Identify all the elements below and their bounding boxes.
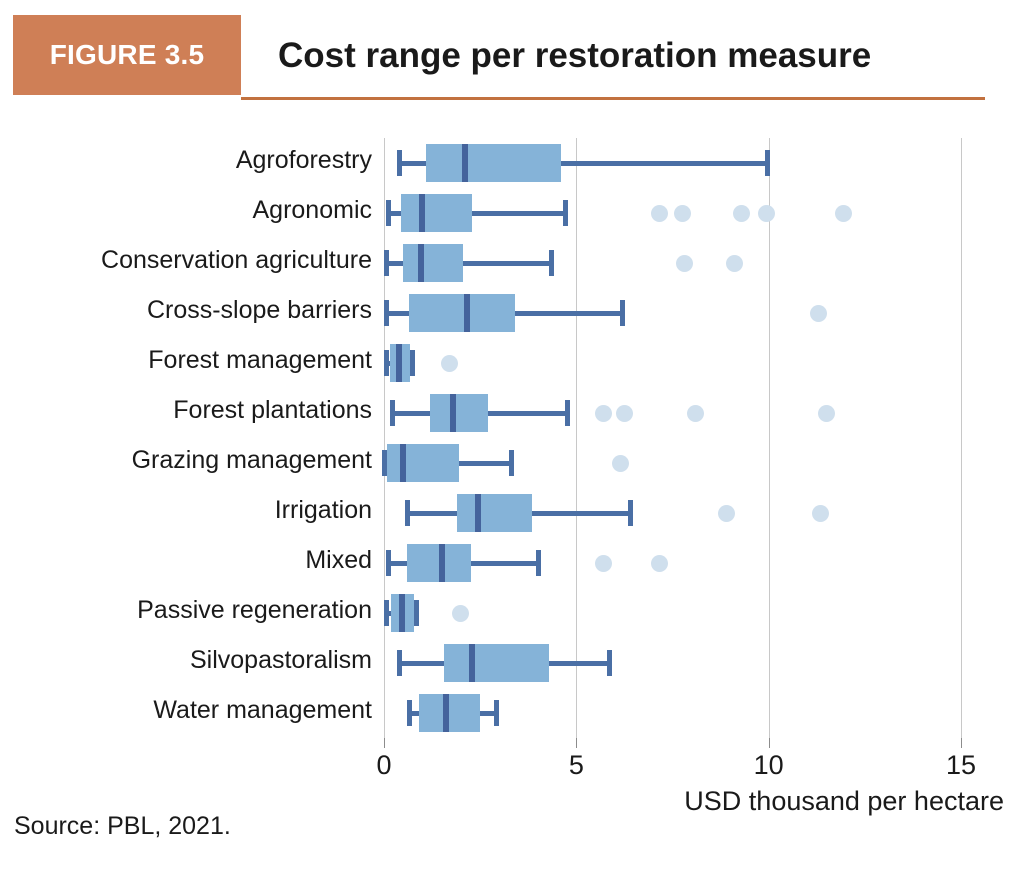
whisker-cap-low — [384, 250, 389, 276]
y-axis-label-grazing-management: Grazing management — [2, 446, 372, 475]
box-plot-row — [384, 338, 961, 388]
outlier-point — [810, 305, 827, 322]
x-tick-label-0: 0 — [376, 750, 391, 781]
box-iqr — [401, 194, 472, 232]
outlier-point — [758, 205, 775, 222]
whisker-cap-high — [509, 450, 514, 476]
outlier-point — [595, 405, 612, 422]
box-plot-row — [384, 188, 961, 238]
whisker-cap-high — [414, 600, 419, 626]
median-line — [400, 444, 406, 482]
whisker-cap-low — [384, 600, 389, 626]
y-axis-label-passive-regeneration: Passive regeneration — [2, 596, 372, 625]
whisker-cap-high — [549, 250, 554, 276]
outlier-point — [674, 205, 691, 222]
y-axis-label-irrigation: Irrigation — [2, 496, 372, 525]
whisker-cap-low — [397, 650, 402, 676]
y-axis-label-mixed: Mixed — [2, 546, 372, 575]
outlier-point — [651, 205, 668, 222]
whisker-cap-low — [384, 350, 389, 376]
median-line — [439, 544, 445, 582]
whisker-cap-high — [494, 700, 499, 726]
outlier-point — [595, 555, 612, 572]
header-divider — [241, 97, 985, 100]
box-plot-row — [384, 538, 961, 588]
y-axis-label-water-management: Water management — [2, 696, 372, 725]
y-axis-label-cross-slope-barriers: Cross-slope barriers — [2, 296, 372, 325]
outlier-point — [812, 505, 829, 522]
outlier-point — [718, 505, 735, 522]
y-axis-category-labels: AgroforestryAgronomicConservation agricu… — [0, 138, 372, 738]
figure-number-badge: FIGURE 3.5 — [13, 15, 241, 95]
median-line — [469, 644, 475, 682]
outlier-point — [676, 255, 693, 272]
whisker-cap-high — [565, 400, 570, 426]
whisker-cap-high — [607, 650, 612, 676]
outlier-point — [687, 405, 704, 422]
x-tick-15 — [961, 738, 962, 748]
y-axis-label-agronomic: Agronomic — [2, 196, 372, 225]
median-line — [399, 594, 405, 632]
box-iqr — [444, 644, 550, 682]
whisker-cap-high — [620, 300, 625, 326]
whisker-cap-high — [536, 550, 541, 576]
outlier-point — [452, 605, 469, 622]
median-line — [450, 394, 456, 432]
box-plot-row — [384, 638, 961, 688]
box-iqr — [457, 494, 532, 532]
figure-header: FIGURE 3.5 Cost range per restoration me… — [0, 0, 1024, 110]
box-iqr — [419, 694, 481, 732]
median-line — [462, 144, 468, 182]
box-plot-row — [384, 238, 961, 288]
whisker-cap-low — [407, 700, 412, 726]
whisker-cap-low — [390, 400, 395, 426]
median-line — [396, 344, 402, 382]
outlier-point — [651, 555, 668, 572]
median-line — [419, 194, 425, 232]
box-plot-row — [384, 588, 961, 638]
outlier-point — [818, 405, 835, 422]
box-iqr — [403, 244, 463, 282]
x-tick-5 — [576, 738, 577, 748]
median-line — [443, 694, 449, 732]
whisker-cap-low — [384, 300, 389, 326]
y-axis-label-agroforestry: Agroforestry — [2, 146, 372, 175]
outlier-point — [441, 355, 458, 372]
box-plot-chart: AgroforestryAgronomicConservation agricu… — [0, 110, 1024, 800]
figure-number-label: FIGURE 3.5 — [50, 39, 204, 71]
x-tick-label-5: 5 — [569, 750, 584, 781]
y-axis-label-forest-plantations: Forest plantations — [2, 396, 372, 425]
median-line — [475, 494, 481, 532]
outlier-point — [835, 205, 852, 222]
y-axis-label-conservation-agriculture: Conservation agriculture — [2, 246, 372, 275]
whisker-cap-high — [628, 500, 633, 526]
box-iqr — [430, 394, 488, 432]
x-tick-label-10: 10 — [754, 750, 784, 781]
outlier-point — [733, 205, 750, 222]
box-plot-row — [384, 288, 961, 338]
source-note: Source: PBL, 2021. — [14, 812, 231, 841]
whisker-cap-low — [405, 500, 410, 526]
box-plot-row — [384, 138, 961, 188]
box-plot-row — [384, 488, 961, 538]
y-axis-label-forest-management: Forest management — [2, 346, 372, 375]
y-axis-label-silvopastoralism: Silvopastoralism — [2, 646, 372, 675]
x-tick-label-15: 15 — [946, 750, 976, 781]
whisker-cap-low — [386, 550, 391, 576]
plot-area — [384, 138, 961, 738]
outlier-point — [726, 255, 743, 272]
whisker-cap-low — [397, 150, 402, 176]
whisker-cap-low — [386, 200, 391, 226]
x-tick-0 — [384, 738, 385, 748]
box-iqr — [426, 144, 561, 182]
whisker-cap-high — [563, 200, 568, 226]
x-tick-10 — [769, 738, 770, 748]
box-plot-row — [384, 688, 961, 738]
outlier-point — [616, 405, 633, 422]
whisker-cap-high — [765, 150, 770, 176]
box-plot-row — [384, 388, 961, 438]
box-iqr — [409, 294, 515, 332]
whisker-cap-high — [410, 350, 415, 376]
median-line — [418, 244, 424, 282]
figure-title: Cost range per restoration measure — [278, 36, 871, 76]
gridline-15 — [961, 138, 962, 738]
median-line — [464, 294, 470, 332]
box-plot-row — [384, 438, 961, 488]
outlier-point — [612, 455, 629, 472]
box-iqr — [387, 444, 459, 482]
